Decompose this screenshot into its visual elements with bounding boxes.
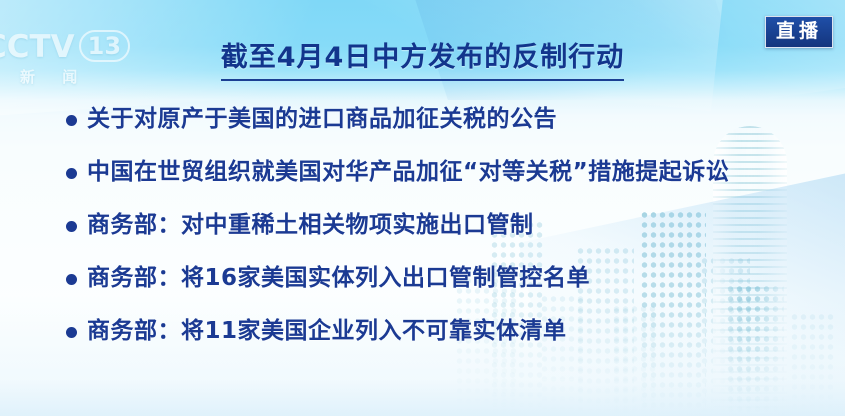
list-item: 商务部：将11家美国企业列入不可靠实体清单 [66, 316, 825, 369]
bullet-dot-icon [66, 221, 77, 232]
list-item-label: 商务部：将11家美国企业列入不可靠实体清单 [87, 316, 567, 346]
title-container: 截至4月4日中方发布的反制行动 [0, 42, 845, 81]
page-title: 截至4月4日中方发布的反制行动 [221, 42, 625, 81]
list-item: 商务部：将16家美国实体列入出口管制管控名单 [66, 263, 825, 316]
list-item: 关于对原产于美国的进口商品加征关税的公告 [66, 104, 825, 157]
list-item: 中国在世贸组织就美国对华产品加征“对等关税”措施提起诉讼 [66, 157, 825, 210]
list-item: 商务部：对中重稀土相关物项实施出口管制 [66, 210, 825, 263]
list-item-label: 商务部：将16家美国实体列入出口管制管控名单 [87, 263, 590, 293]
bullet-dot-icon [66, 274, 77, 285]
list-item-label: 商务部：对中重稀土相关物项实施出口管制 [87, 210, 534, 240]
bullet-dot-icon [66, 168, 77, 179]
bullet-dot-icon [66, 327, 77, 338]
list-item-label: 关于对原产于美国的进口商品加征关税的公告 [87, 104, 557, 134]
broadcast-lower-third-graphic: CCTV13 新 闻 直播 截至4月4日中方发布的反制行动 关于对原产于美国的进… [0, 0, 845, 416]
list-item-label: 中国在世贸组织就美国对华产品加征“对等关税”措施提起诉讼 [87, 157, 729, 187]
action-list: 关于对原产于美国的进口商品加征关税的公告 中国在世贸组织就美国对华产品加征“对等… [66, 104, 825, 369]
bullet-dot-icon [66, 115, 77, 126]
